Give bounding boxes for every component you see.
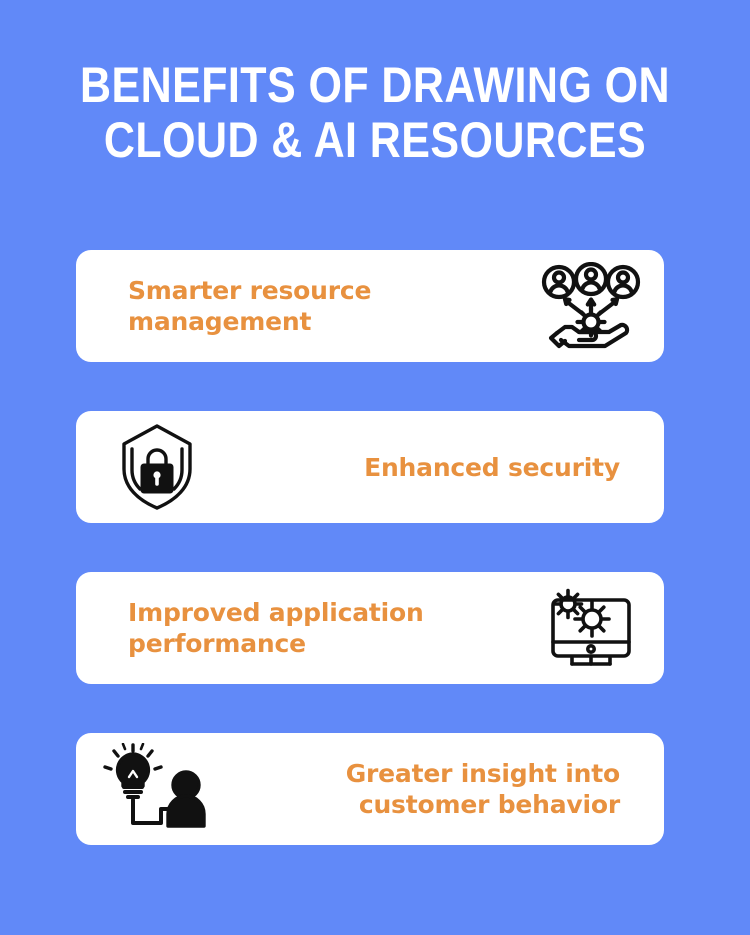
people-gear-hand-icon	[536, 260, 646, 352]
title-line-1: Benefits of Drawing on	[53, 58, 698, 113]
page-title: Benefits of Drawing on Cloud & AI Resour…	[0, 58, 750, 168]
shield-lock-icon	[102, 421, 212, 513]
benefit-card-improved-application-performance[interactable]: Improved application performance	[76, 572, 664, 684]
benefit-label: Greater insight into customer behavior	[212, 758, 664, 820]
monitor-gears-icon	[536, 582, 646, 674]
benefit-card-enhanced-security[interactable]: Enhanced security	[76, 411, 664, 523]
benefits-list: Smarter resource management	[76, 250, 664, 845]
infographic-poster: Benefits of Drawing on Cloud & AI Resour…	[0, 0, 750, 935]
benefit-label: Improved application performance	[76, 597, 536, 659]
benefit-label: Smarter resource management	[76, 275, 536, 337]
lightbulb-person-icon	[102, 743, 212, 835]
benefit-label: Enhanced security	[212, 452, 664, 483]
benefit-card-greater-insight[interactable]: Greater insight into customer behavior	[76, 733, 664, 845]
title-line-2: Cloud & AI Resources	[53, 113, 698, 168]
benefit-card-smarter-resource-management[interactable]: Smarter resource management	[76, 250, 664, 362]
